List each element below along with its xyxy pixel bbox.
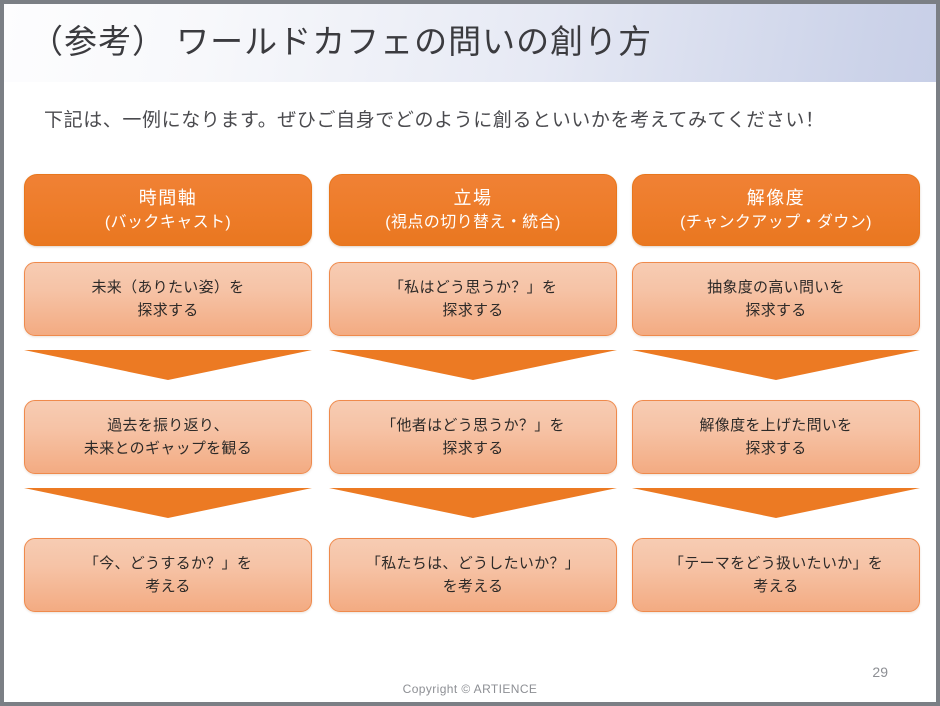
copyright-notice: Copyright © ARTIENCE (4, 682, 936, 696)
step-card[interactable]: 「テーマをどう扱いたいか」を 考える (632, 538, 920, 612)
slide-subtitle: 下記は、一例になります。ぜひご自身でどのように創るといいかを考えてみてください！ (44, 106, 825, 136)
step-card-line1: 「私はどう思うか？」を (389, 276, 557, 299)
title-band: （参考） ワールドカフェの問いの創り方 (4, 4, 936, 82)
step-card-line1: 「今、どうするか？」を (84, 552, 252, 575)
column-header-line2: (バックキャスト) (105, 211, 231, 234)
step-card-line1: 「テーマをどう扱いたいか」を (669, 552, 883, 575)
step-card[interactable]: 未来（ありたい姿）を 探求する (24, 262, 312, 336)
step-card[interactable]: 「他者はどう思うか？」を 探求する (329, 400, 617, 474)
step-card-line2: を考える (443, 575, 504, 598)
down-arrow-icon (24, 488, 312, 518)
step-card-line1: 未来（ありたい姿）を (91, 276, 244, 299)
step-card-line2: 探求する (442, 299, 503, 322)
columns-grid: 時間軸 (バックキャスト) 未来（ありたい姿）を 探求する 過去を振り返り、 未… (24, 174, 922, 634)
down-arrow-icon (632, 488, 920, 518)
column-standpoint: 立場 (視点の切り替え・統合) 「私はどう思うか？」を 探求する 「他者はどう思… (329, 174, 617, 634)
column-header-line1: 解像度 (747, 186, 806, 211)
column-resolution: 解像度 (チャンクアップ・ダウン) 抽象度の高い問いを 探求する 解像度を上げた… (632, 174, 920, 634)
column-header-line2: (視点の切り替え・統合) (385, 211, 560, 234)
down-arrow-icon (24, 350, 312, 380)
step-card-line2: 未来とのギャップを観る (84, 437, 252, 460)
page-number: 29 (872, 664, 888, 680)
step-card[interactable]: 「私たちは、どうしたいか？」 を考える (329, 538, 617, 612)
step-card[interactable]: 解像度を上げた問いを 探求する (632, 400, 920, 474)
slide-canvas: （参考） ワールドカフェの問いの創り方 下記は、一例になります。ぜひご自身でどの… (0, 0, 940, 706)
step-card-line2: 探求する (745, 299, 806, 322)
down-arrow-icon (329, 488, 617, 518)
column-time-axis: 時間軸 (バックキャスト) 未来（ありたい姿）を 探求する 過去を振り返り、 未… (24, 174, 312, 634)
step-card-line2: 探求する (745, 437, 806, 460)
step-card[interactable]: 抽象度の高い問いを 探求する (632, 262, 920, 336)
down-arrow-icon (329, 350, 617, 380)
step-card-line2: 考える (145, 575, 190, 598)
step-card-line1: 過去を振り返り、 (107, 414, 229, 437)
column-header-line2: (チャンクアップ・ダウン) (680, 211, 872, 234)
step-card-line1: 「私たちは、どうしたいか？」 (366, 552, 580, 575)
step-card-line1: 解像度を上げた問いを (699, 414, 852, 437)
column-header-standpoint[interactable]: 立場 (視点の切り替え・統合) (329, 174, 617, 246)
down-arrow-icon (632, 350, 920, 380)
column-header-line1: 時間軸 (139, 186, 198, 211)
step-card[interactable]: 「私はどう思うか？」を 探求する (329, 262, 617, 336)
column-header-resolution[interactable]: 解像度 (チャンクアップ・ダウン) (632, 174, 920, 246)
step-card[interactable]: 「今、どうするか？」を 考える (24, 538, 312, 612)
step-card-line2: 探求する (442, 437, 503, 460)
page-title: （参考） ワールドカフェの問いの創り方 (30, 18, 652, 66)
step-card-line1: 抽象度の高い問いを (707, 276, 845, 299)
step-card-line2: 考える (753, 575, 798, 598)
step-card-line1: 「他者はどう思うか？」を (381, 414, 565, 437)
column-header-line1: 立場 (454, 186, 493, 211)
step-card-line2: 探求する (137, 299, 198, 322)
step-card[interactable]: 過去を振り返り、 未来とのギャップを観る (24, 400, 312, 474)
column-header-time-axis[interactable]: 時間軸 (バックキャスト) (24, 174, 312, 246)
